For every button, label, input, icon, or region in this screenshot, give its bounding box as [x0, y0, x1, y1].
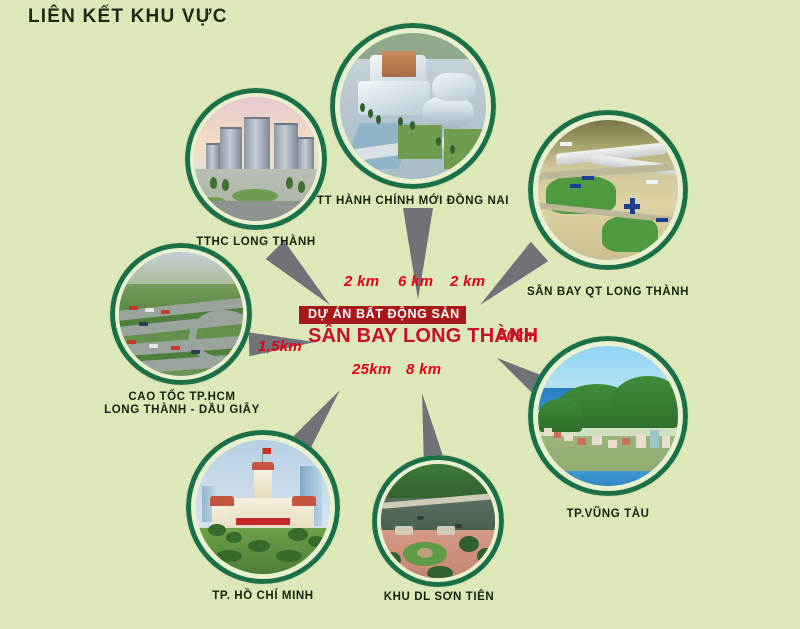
- arrow-to-tthc-long-thanh: [266, 241, 340, 315]
- node-caption: KHU DL SƠN TIÊN: [350, 591, 528, 604]
- node-caption: TT HÀNH CHÍNH MỚI ĐỒNG NAI: [292, 195, 534, 208]
- page-title: LIÊN KẾT KHU VỰC: [28, 6, 228, 28]
- photo-san-bay-qt-long-thanh: [538, 120, 678, 260]
- photo-khu-dl-son-tien: [381, 464, 495, 578]
- distance-label-tp-ho-chi-minh: 25km: [352, 361, 392, 378]
- center-project-badge[interactable]: DỰ ÁN BẤT ĐỘNG SẢN SÂN BAY LONG THÀNH: [299, 305, 509, 347]
- node-caption: CAO TỐC TP.HCM LONG THÀNH - DẦU GIÂY: [84, 391, 280, 417]
- distance-label-cao-toc-tphcm: 1,5km: [258, 338, 302, 355]
- photo-tt-hanh-chinh-dong-nai: [340, 33, 486, 179]
- photo-tp-vung-tau: [538, 346, 678, 486]
- distance-label-tt-hanh-chinh-dong-nai: 6 km: [398, 273, 433, 290]
- node-caption: TP. HỒ CHÍ MINH: [174, 590, 352, 603]
- infographic-canvas: LIÊN KẾT KHU VỰC: [0, 0, 800, 629]
- node-caption: TP.VŨNG TÀU: [516, 508, 700, 521]
- node-caption: SÂN BAY QT LONG THÀNH: [500, 286, 716, 299]
- project-name: SÂN BAY LONG THÀNH: [299, 325, 509, 347]
- distance-label-tthc-long-thanh: 2 km: [344, 273, 379, 290]
- photo-cao-toc-tphcm: [119, 252, 243, 376]
- distance-label-san-bay-qt-long-thanh: 2 km: [450, 273, 485, 290]
- photo-tp-ho-chi-minh: [196, 440, 330, 574]
- project-banner-label: DỰ ÁN BẤT ĐỘNG SẢN: [299, 306, 466, 324]
- distance-label-khu-dl-son-tien: 8 km: [406, 361, 441, 378]
